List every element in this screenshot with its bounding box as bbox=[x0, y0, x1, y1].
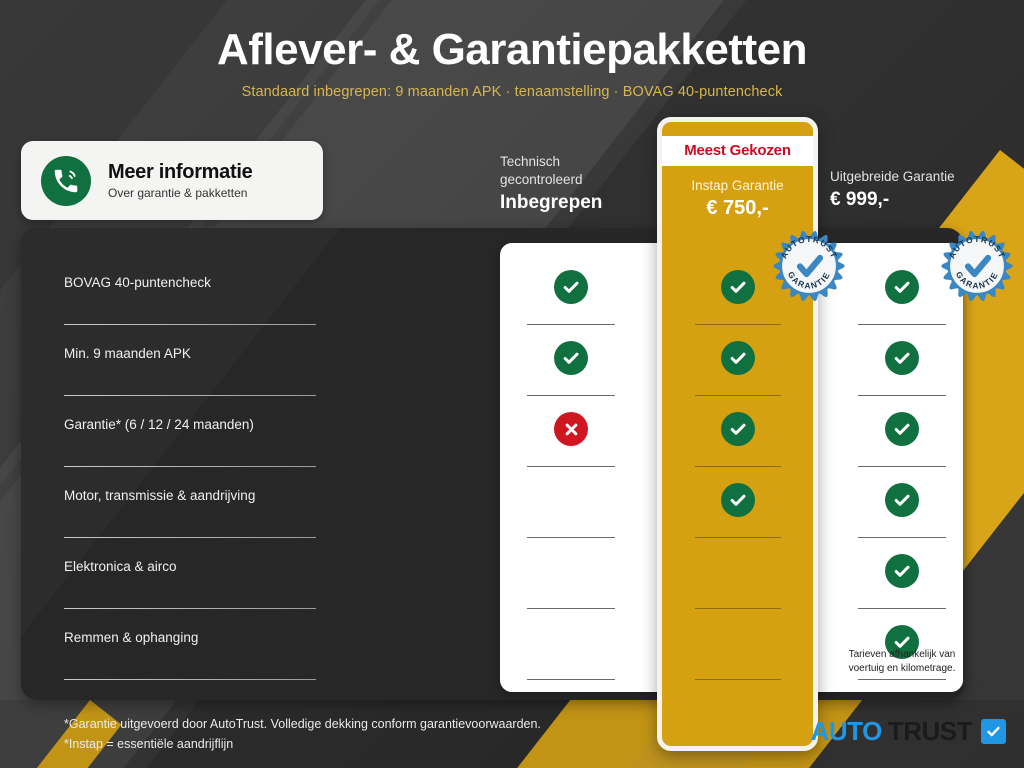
more-info-title: Meer informatie bbox=[108, 161, 252, 184]
feature-label-list: BOVAG 40-puntencheckMin. 9 maanden APKGa… bbox=[64, 262, 316, 688]
phone-ring-icon bbox=[41, 156, 91, 206]
page-subtitle: Standaard inbegrepen: 9 maanden APK · te… bbox=[0, 84, 1024, 100]
ext-price: € 999,- bbox=[830, 189, 1024, 211]
mark-divider bbox=[695, 537, 781, 538]
header: Aflever- & Garantiepakketten Standaard i… bbox=[0, 26, 1024, 100]
checkbox-check-icon bbox=[981, 719, 1006, 744]
autotrust-garantie-seal-icon: AUTOTRUSTGARANTIE bbox=[772, 229, 846, 303]
mark-divider bbox=[858, 608, 946, 609]
autotrust-garantie-seal-icon-2: AUTOTRUSTGARANTIE bbox=[940, 229, 1014, 303]
check-icon bbox=[885, 483, 919, 517]
feature-divider bbox=[64, 608, 316, 609]
footnotes: *Garantie uitgevoerd door AutoTrust. Vol… bbox=[64, 714, 541, 754]
marks-column-instap bbox=[668, 262, 808, 688]
feature-divider bbox=[64, 537, 316, 538]
feature-row: Motor, transmissie & aandrijving bbox=[64, 475, 316, 546]
mark-divider bbox=[695, 608, 781, 609]
marks-column-technisch bbox=[501, 262, 641, 688]
mark-row bbox=[501, 404, 641, 475]
most-chosen-badge: Meest Gekozen bbox=[662, 136, 813, 166]
feature-label: Min. 9 maanden APK bbox=[64, 346, 191, 361]
mark-divider bbox=[695, 324, 781, 325]
mark-divider bbox=[858, 395, 946, 396]
feature-divider bbox=[64, 395, 316, 396]
check-icon bbox=[721, 483, 755, 517]
footnote-1: *Garantie uitgevoerd door AutoTrust. Vol… bbox=[64, 714, 541, 734]
tech-line2: gecontroleerd bbox=[500, 171, 660, 189]
feature-row: Min. 9 maanden APK bbox=[64, 333, 316, 404]
mark-row bbox=[668, 475, 808, 546]
feature-row: Elektronica & airco bbox=[64, 546, 316, 617]
mark-row bbox=[668, 404, 808, 475]
feature-divider bbox=[64, 324, 316, 325]
logo-auto-text: AUTO bbox=[811, 716, 882, 747]
mark-row bbox=[668, 617, 808, 688]
mark-divider bbox=[858, 324, 946, 325]
more-info-subtitle: Over garantie & pakketten bbox=[108, 186, 252, 200]
mark-row bbox=[832, 333, 972, 404]
feature-label: Remmen & ophanging bbox=[64, 630, 198, 645]
column-header-uitgebreide: Uitgebreide Garantie € 999,- bbox=[830, 168, 1024, 211]
feature-label: Garantie* (6 / 12 / 24 maanden) bbox=[64, 417, 254, 432]
mark-divider bbox=[527, 537, 615, 538]
mark-row bbox=[668, 546, 808, 617]
mark-row bbox=[832, 546, 972, 617]
mark-divider bbox=[695, 395, 781, 396]
check-icon bbox=[554, 270, 588, 304]
mark-divider bbox=[858, 679, 946, 680]
mark-row bbox=[832, 404, 972, 475]
feature-row: BOVAG 40-puntencheck bbox=[64, 262, 316, 333]
autotrust-logo: AUTO TRUST bbox=[811, 716, 1006, 747]
mark-divider bbox=[695, 466, 781, 467]
mark-divider bbox=[858, 466, 946, 467]
mark-divider bbox=[695, 679, 781, 680]
logo-trust-text: TRUST bbox=[888, 716, 972, 747]
page-title: Aflever- & Garantiepakketten bbox=[0, 26, 1024, 74]
mark-row bbox=[501, 475, 641, 546]
mark-row bbox=[501, 546, 641, 617]
extended-note: Tarieven afhankelijk van voertuig en kil… bbox=[832, 648, 972, 675]
instap-name: Instap Garantie bbox=[662, 178, 813, 193]
mark-divider bbox=[527, 608, 615, 609]
feature-divider bbox=[64, 679, 316, 680]
mark-row bbox=[668, 333, 808, 404]
check-icon bbox=[885, 270, 919, 304]
column-header-technisch: Technisch gecontroleerd Inbegrepen bbox=[500, 153, 660, 214]
check-icon bbox=[885, 412, 919, 446]
tech-value: Inbegrepen bbox=[500, 192, 660, 214]
most-chosen-label: Meest Gekozen bbox=[684, 142, 791, 159]
tech-line1: Technisch bbox=[500, 153, 660, 171]
check-icon bbox=[885, 341, 919, 375]
cross-icon bbox=[554, 412, 588, 446]
feature-label: BOVAG 40-puntencheck bbox=[64, 275, 211, 290]
feature-label: Motor, transmissie & aandrijving bbox=[64, 488, 255, 503]
feature-label: Elektronica & airco bbox=[64, 559, 177, 574]
check-icon bbox=[721, 270, 755, 304]
check-icon bbox=[721, 412, 755, 446]
more-info-card[interactable]: Meer informatie Over garantie & pakkette… bbox=[21, 141, 323, 220]
promo-poster: Aflever- & Garantiepakketten Standaard i… bbox=[0, 0, 1024, 768]
mark-divider bbox=[527, 679, 615, 680]
check-icon bbox=[721, 341, 755, 375]
instap-price: € 750,- bbox=[662, 197, 813, 220]
mark-row bbox=[501, 262, 641, 333]
mark-divider bbox=[527, 324, 615, 325]
check-icon bbox=[885, 554, 919, 588]
feature-row: Remmen & ophanging bbox=[64, 617, 316, 688]
footnote-2: *Instap = essentiële aandrijflijn bbox=[64, 734, 541, 754]
marks-column-uitgebreide bbox=[832, 262, 972, 688]
mark-row bbox=[501, 333, 641, 404]
mark-row bbox=[832, 475, 972, 546]
mark-row bbox=[501, 617, 641, 688]
feature-divider bbox=[64, 466, 316, 467]
check-icon bbox=[554, 341, 588, 375]
mark-divider bbox=[858, 537, 946, 538]
ext-name: Uitgebreide Garantie bbox=[830, 168, 1024, 186]
feature-row: Garantie* (6 / 12 / 24 maanden) bbox=[64, 404, 316, 475]
mark-divider bbox=[527, 466, 615, 467]
mark-divider bbox=[527, 395, 615, 396]
